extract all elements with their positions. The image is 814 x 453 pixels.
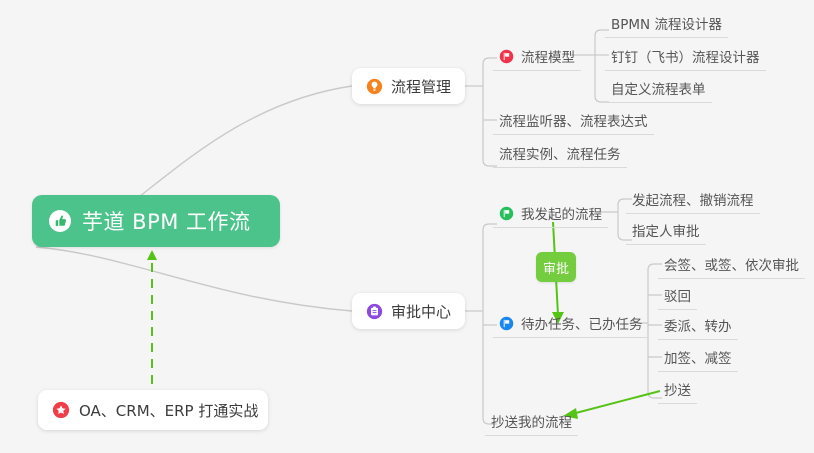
node-label: 驳回 <box>664 285 691 305</box>
node-label: 指定人审批 <box>632 220 700 240</box>
node-countersign-orsign-sequential[interactable]: 会签、或签、依次审批 <box>658 252 805 279</box>
flag-icon <box>499 206 514 221</box>
node-todo-done-tasks[interactable]: 待办任务、已办任务 <box>493 311 649 338</box>
branch-node-process-management[interactable]: 流程管理 <box>352 68 465 104</box>
node-label: 我发起的流程 <box>521 203 602 223</box>
node-add-remove-sign[interactable]: 加签、减签 <box>658 345 738 372</box>
node-reject[interactable]: 驳回 <box>658 283 697 310</box>
branch-label: 审批中心 <box>391 301 451 322</box>
flag-icon <box>499 49 514 64</box>
clipboard-icon <box>366 303 383 320</box>
node-cc-to-me-processes[interactable]: 抄送我的流程 <box>485 409 578 436</box>
star-icon <box>52 401 70 419</box>
root-label: 芋道 BPM 工作流 <box>82 206 251 236</box>
node-label: 会签、或签、依次审批 <box>664 254 799 274</box>
node-my-started-processes[interactable]: 我发起的流程 <box>493 201 608 228</box>
node-process-instance-task[interactable]: 流程实例、流程任务 <box>493 141 627 168</box>
branch-label: 流程管理 <box>391 76 451 97</box>
node-process-listener-expression[interactable]: 流程监听器、流程表达式 <box>493 108 654 135</box>
node-delegate-transfer[interactable]: 委派、转办 <box>658 313 738 340</box>
node-start-cancel-process[interactable]: 发起流程、撤销流程 <box>626 187 760 214</box>
node-label: BPMN 流程设计器 <box>611 13 722 33</box>
thumbs-up-icon <box>48 209 72 233</box>
node-label: 流程模型 <box>521 46 575 66</box>
node-label: 流程监听器、流程表达式 <box>499 110 648 130</box>
mindmap-canvas: 芋道 BPM 工作流 流程管理 流程模型 BPMN 流程设计器 钉钉（飞书）流程 <box>0 0 814 453</box>
node-assignee-approval[interactable]: 指定人审批 <box>626 218 706 245</box>
node-custom-process-form[interactable]: 自定义流程表单 <box>605 76 712 103</box>
branch-node-approval-center[interactable]: 审批中心 <box>352 293 465 329</box>
node-label: 抄送我的流程 <box>491 411 572 431</box>
node-label: 钉钉（飞书）流程设计器 <box>611 46 760 66</box>
annotation-label: 审批 <box>543 258 569 277</box>
node-process-model[interactable]: 流程模型 <box>493 44 581 71</box>
node-dingtalk-feishu-designer[interactable]: 钉钉（飞书）流程设计器 <box>605 44 766 71</box>
node-label: 加签、减签 <box>664 347 732 367</box>
node-label: 抄送 <box>664 379 691 399</box>
node-label: 发起流程、撤销流程 <box>632 189 754 209</box>
node-label: 待办任务、已办任务 <box>521 313 643 333</box>
node-label: 委派、转办 <box>664 315 732 335</box>
node-bpmn-designer[interactable]: BPMN 流程设计器 <box>605 11 728 38</box>
annotation-chip-approval: 审批 <box>536 252 576 282</box>
root-node[interactable]: 芋道 BPM 工作流 <box>32 195 280 247</box>
node-label: 流程实例、流程任务 <box>499 143 621 163</box>
node-label: 自定义流程表单 <box>611 78 706 98</box>
callout-label: OA、CRM、ERP 打通实战 <box>79 400 258 421</box>
callout-integration[interactable]: OA、CRM、ERP 打通实战 <box>38 390 268 430</box>
node-cc[interactable]: 抄送 <box>658 377 697 404</box>
lightbulb-icon <box>366 78 383 95</box>
flag-icon <box>499 316 514 331</box>
